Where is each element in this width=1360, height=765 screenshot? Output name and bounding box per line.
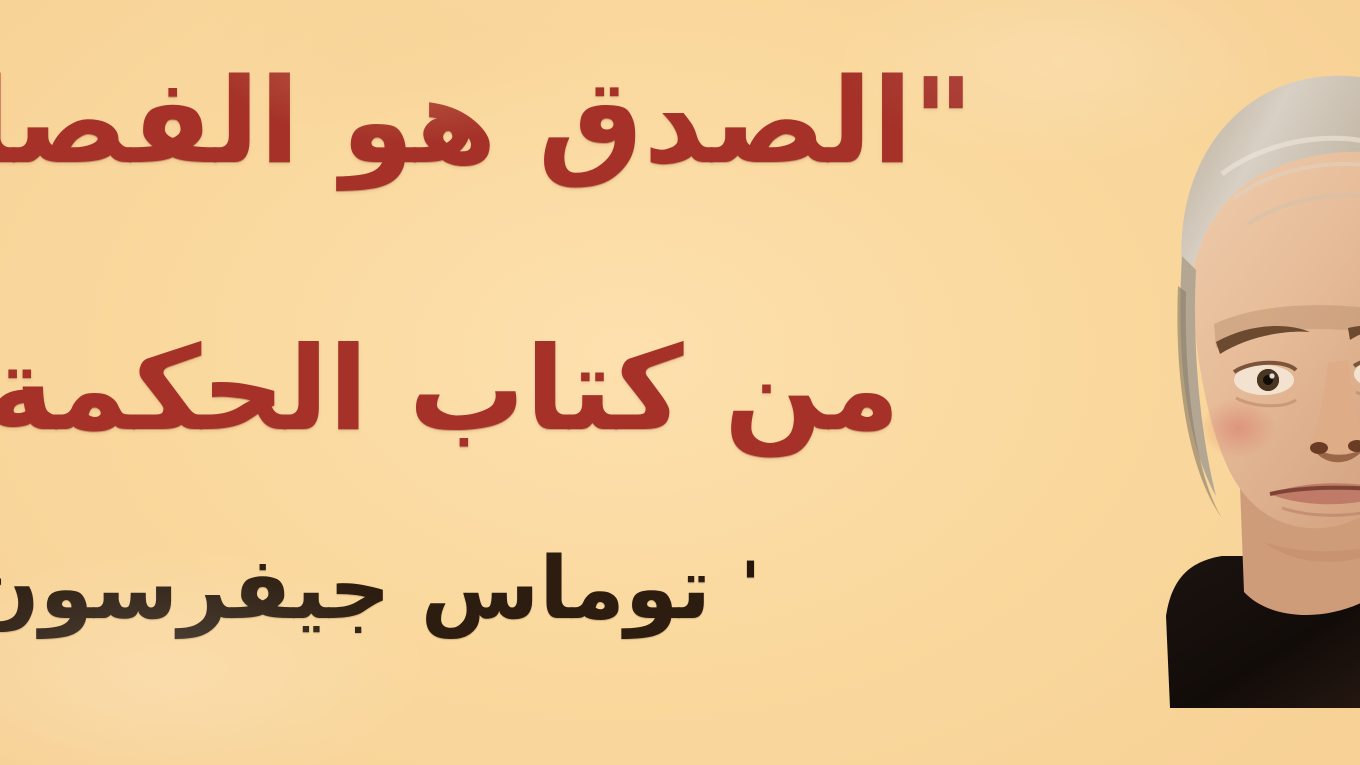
- quote-image-canvas: "الصدق هو الفصل الأو من كتاب الحكمة ' تو…: [0, 0, 1360, 765]
- portrait-thomas-jefferson-icon: [1152, 56, 1360, 708]
- quote-line-2: من كتاب الحكمة: [0, 332, 948, 448]
- quote-attribution: ' توماس جيفرسون ': [60, 546, 760, 632]
- attribution-open-mark: ': [741, 548, 760, 621]
- attribution-name: توماس جيفرسون: [0, 539, 711, 639]
- quote-line-1: "الصدق هو الفصل الأو: [0, 62, 974, 180]
